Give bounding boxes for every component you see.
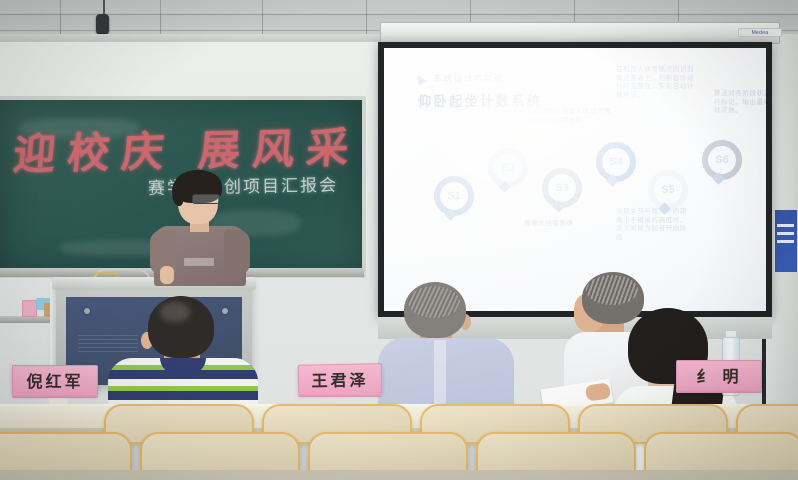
placard-name: 纟 明 xyxy=(696,363,741,387)
slide-kicker: 系统设计与实现 xyxy=(434,73,504,84)
slide-step-ring: S5 xyxy=(648,170,688,210)
name-placard: 纟 明 xyxy=(676,360,762,390)
slide-step-label: S5 xyxy=(654,176,682,204)
presenter-sleeve-right xyxy=(224,230,250,274)
slide-step-label: S2 xyxy=(494,154,522,182)
screen-brand-logo: Medea xyxy=(738,28,782,37)
slide-step-label: S4 xyxy=(602,148,630,176)
shelf-item-pink xyxy=(22,300,37,317)
slide-step-ring: S2 xyxy=(488,148,528,188)
slide-step-caption: 摄像头拍摄图像 xyxy=(524,220,598,229)
placard-base xyxy=(676,389,762,393)
slide-step-label: S3 xyxy=(548,174,576,202)
hair-highlight xyxy=(160,302,190,322)
presenter-glasses-icon xyxy=(192,194,220,204)
slide-title: 仰卧起坐计数系统 xyxy=(418,90,542,110)
presenter-hair-side xyxy=(172,180,184,206)
slide-step-label: S1 xyxy=(440,182,468,210)
slide-step-ring: S3 xyxy=(542,168,582,208)
hair-grey-texture xyxy=(408,286,460,318)
bottle-cap xyxy=(725,330,737,338)
slide-step-caption: 当肩关节与髋关节的距离小于阈值的高度时，定义阶段为起身开始阶段 xyxy=(616,208,690,242)
presenter xyxy=(152,170,252,282)
slide-step-ring: S4 xyxy=(596,142,636,182)
name-placard: 王君泽 xyxy=(298,363,383,394)
placard-base xyxy=(12,394,98,398)
slide-step-ring: S1 xyxy=(434,176,474,216)
classroom-scene: 迎校庆 展风采 赛学院大创项目汇报会 Medea 系统设计与实现 仰卧起坐计数系… xyxy=(0,0,798,480)
placard-name: 倪红军 xyxy=(26,368,83,392)
placard-base xyxy=(298,393,382,397)
hair-grey-texture xyxy=(586,275,638,305)
projector-screen-housing xyxy=(380,22,780,44)
wall-shelf xyxy=(0,316,50,323)
name-placard: 倪红军 xyxy=(12,365,98,395)
presenter-shirt-print xyxy=(184,258,214,266)
podium-knob[interactable] xyxy=(84,308,90,314)
shirt-placket xyxy=(434,340,446,414)
lavender-shirt xyxy=(378,338,514,414)
slide-bullet-triangle-icon xyxy=(418,76,427,86)
floor-strip xyxy=(0,470,798,480)
wall-poster xyxy=(775,210,797,272)
slide-paragraph: 在利用人体骨骼点的识别算法基础上，判断起卧动作的完整性，实现自动计数统计。 xyxy=(616,66,700,100)
audience-member-lavender-shirt xyxy=(378,282,514,414)
slide-step-label: S6 xyxy=(708,146,736,174)
slide-paragraph: 系统采用摄像头采集人体动作图像，通过算法识别计数。 xyxy=(512,108,620,125)
slide-paragraph: 算法对各阶段状态进行标记，输出最终有效次数。 xyxy=(714,90,766,116)
audience-member-striped-polo xyxy=(108,296,258,412)
slide-step-ring: S6 xyxy=(702,140,742,180)
placard-name: 王君泽 xyxy=(311,367,368,392)
presenter-arm xyxy=(160,266,174,284)
